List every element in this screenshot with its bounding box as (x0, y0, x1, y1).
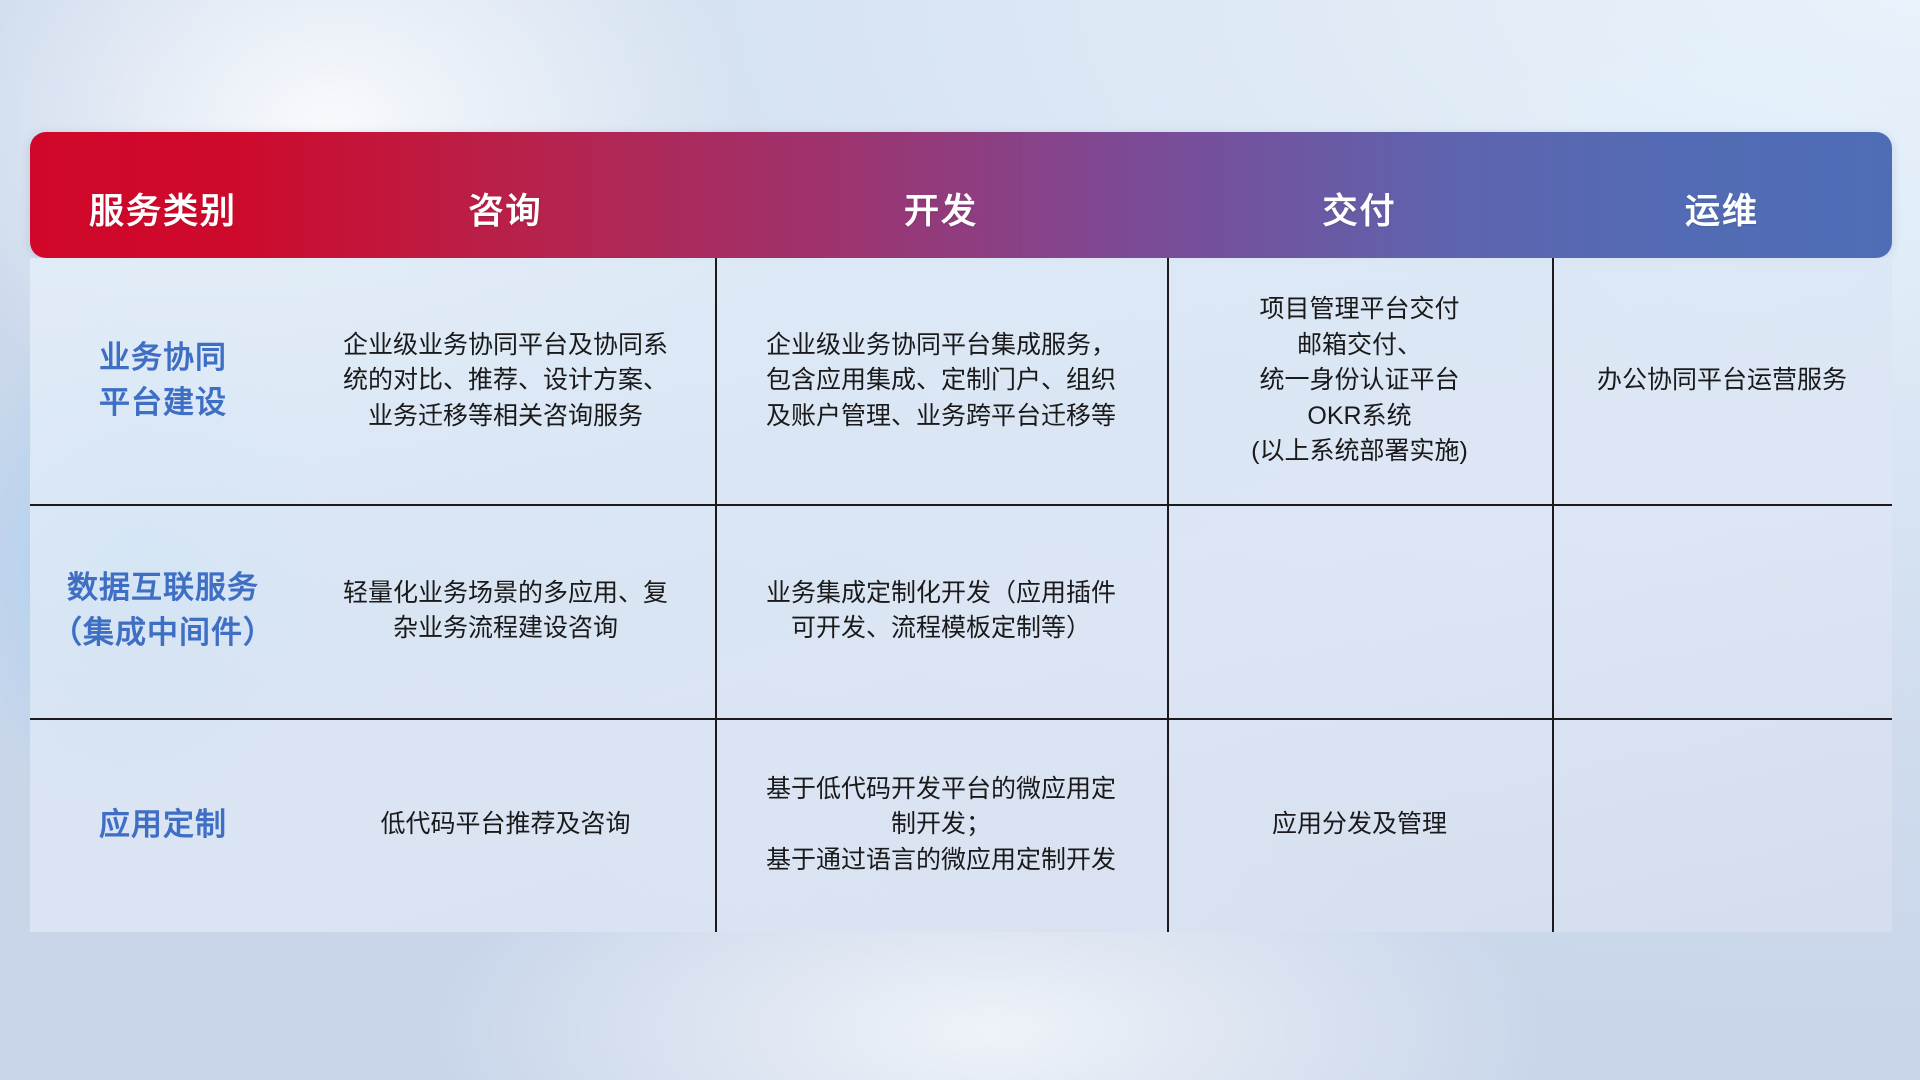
cell-consulting: 轻量化业务场景的多应用、复 杂业务流程建设咨询 (296, 504, 715, 718)
cell-development: 基于低代码开发平台的微应用定 制开发； 基于通过语言的微应用定制开发 (715, 718, 1167, 932)
table-row: 数据互联服务 （集成中间件） 轻量化业务场景的多应用、复 杂业务流程建设咨询 业… (30, 504, 1892, 718)
table-row: 业务协同 平台建设 企业级业务协同平台及协同系 统的对比、推荐、设计方案、 业务… (30, 258, 1892, 504)
cell-consulting: 企业级业务协同平台及协同系 统的对比、推荐、设计方案、 业务迁移等相关咨询服务 (296, 258, 715, 504)
row-category-label: 业务协同 平台建设 (30, 258, 296, 504)
cell-development: 业务集成定制化开发（应用插件 可开发、流程模板定制等） (715, 504, 1167, 718)
row-category-label: 应用定制 (30, 718, 296, 932)
service-matrix-table: 服务类别 咨询 开发 交付 运维 业务协同 平台建设 企业级业务协同平台及协同系… (30, 132, 1892, 932)
cell-operations (1552, 504, 1892, 718)
table-header-cell-development: 开发 (715, 132, 1167, 258)
table-header-cell-category: 服务类别 (30, 132, 296, 258)
cell-consulting: 低代码平台推荐及咨询 (296, 718, 715, 932)
cell-development: 企业级业务协同平台集成服务， 包含应用集成、定制门户、组织 及账户管理、业务跨平… (715, 258, 1167, 504)
table-header-row: 服务类别 咨询 开发 交付 运维 (30, 132, 1892, 258)
cell-delivery: 应用分发及管理 (1167, 718, 1552, 932)
table-body: 业务协同 平台建设 企业级业务协同平台及协同系 统的对比、推荐、设计方案、 业务… (30, 258, 1892, 932)
table-header-cell-delivery: 交付 (1167, 132, 1552, 258)
table-header-cell-consulting: 咨询 (296, 132, 715, 258)
table-row: 应用定制 低代码平台推荐及咨询 基于低代码开发平台的微应用定 制开发； 基于通过… (30, 718, 1892, 932)
cell-operations (1552, 718, 1892, 932)
table-header-cell-operations: 运维 (1552, 132, 1892, 258)
row-category-label: 数据互联服务 （集成中间件） (30, 504, 296, 718)
cell-delivery: 项目管理平台交付 邮箱交付、 统一身份认证平台 OKR系统 (以上系统部署实施) (1167, 258, 1552, 504)
cell-delivery (1167, 504, 1552, 718)
cell-operations: 办公协同平台运营服务 (1552, 258, 1892, 504)
